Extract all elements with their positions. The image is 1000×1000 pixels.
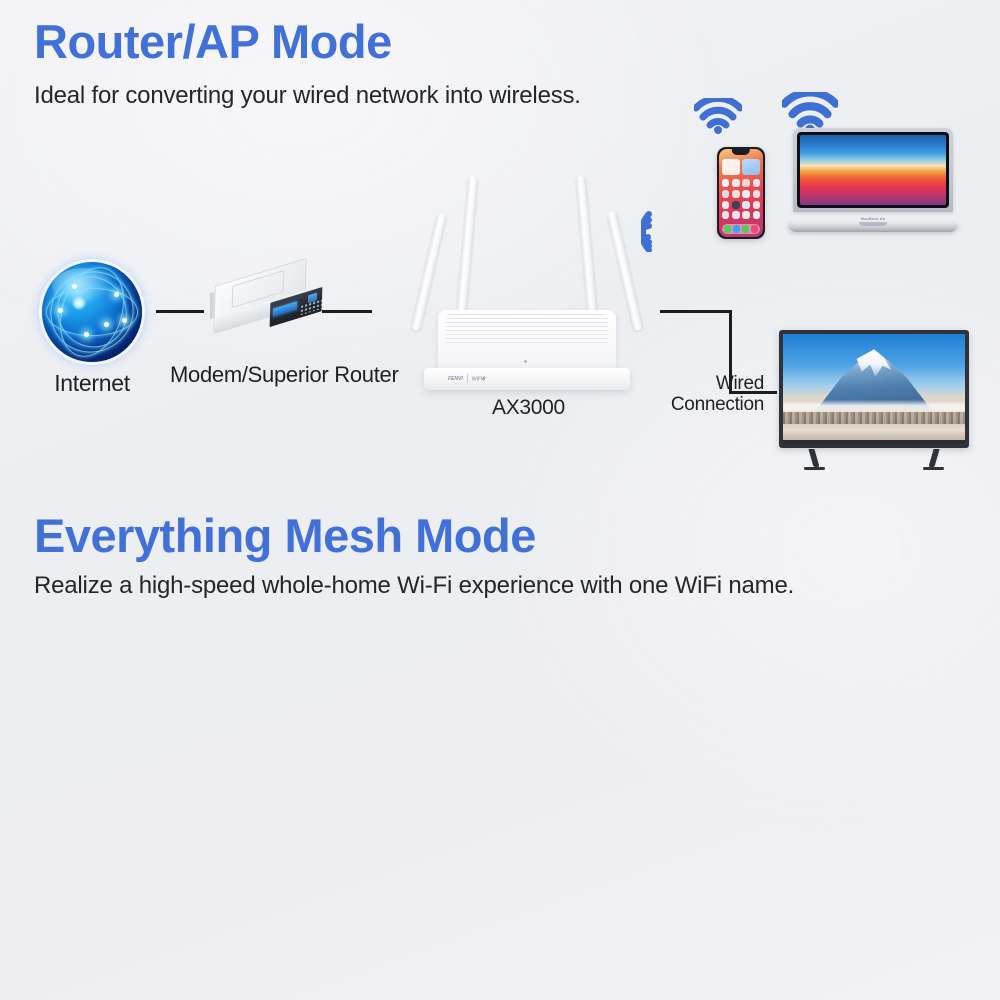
television-device-1 [779, 330, 969, 470]
laptop-deck [788, 222, 958, 232]
tv-screen [783, 334, 965, 444]
phone-screen [719, 149, 763, 237]
laptop-lid [793, 128, 953, 212]
tv-leg [928, 449, 939, 467]
phone-dock [722, 224, 761, 235]
tv-frame [779, 330, 969, 448]
tv-leg [809, 449, 820, 467]
infographic-page: Router/AP Mode Ideal for converting your… [0, 0, 1000, 1000]
laptop-device-1: MacBook Air [793, 128, 953, 236]
router-body [438, 310, 616, 376]
router-led-indicator [524, 360, 527, 363]
brand-name: FENVI [448, 376, 463, 382]
internet-globe-icon [42, 262, 142, 362]
internet-node-1: Internet [42, 262, 142, 397]
laptop-wallpaper [800, 135, 946, 205]
laptop-model-text: MacBook Air [793, 216, 953, 221]
phone-app-grid [722, 179, 761, 219]
smartphone-device-1 [717, 147, 765, 239]
router-antenna [456, 176, 479, 324]
router-label-1: AX3000 [492, 396, 565, 420]
section-1-heading: Router/AP Mode [34, 18, 392, 65]
router-brand-mark: FENVI WIFI6+ [448, 374, 487, 383]
modem-label-1: Modem/Superior Router [170, 362, 398, 388]
wifi-arc-icon [641, 206, 683, 252]
wired-connection-label-1: Wired Connection [648, 374, 764, 415]
phone-notch [732, 149, 750, 155]
router-ax3000-1: FENVI WIFI6+ [418, 170, 638, 390]
wifi-signal-icon [694, 98, 742, 134]
modem-device-1 [208, 270, 328, 340]
wifi6-logo: WIFI6+ [472, 375, 487, 383]
wire-router-to-tv-horizontal-1 [660, 310, 732, 313]
section-router-ap-mode: Router/AP Mode Ideal for converting your… [0, 0, 1000, 500]
section-1-subheading: Ideal for converting your wired network … [34, 82, 581, 110]
internet-label-1: Internet [42, 370, 142, 397]
tv-foot [923, 467, 944, 471]
wire-internet-to-modem-1 [156, 310, 204, 313]
section-everything-mesh-mode: Everything Mesh Mode Realize a high-spee… [0, 500, 1000, 1000]
laptop-screen [797, 132, 949, 208]
section-2-subheading: Realize a high-speed whole-home Wi-Fi ex… [34, 572, 794, 600]
router-base: FENVI WIFI6+ [424, 368, 630, 390]
wire-modem-to-router-1 [322, 310, 372, 313]
tv-image-water [783, 424, 965, 442]
tv-foot [804, 467, 825, 471]
router-antenna [576, 176, 599, 324]
section-2-heading: Everything Mesh Mode [34, 512, 536, 559]
